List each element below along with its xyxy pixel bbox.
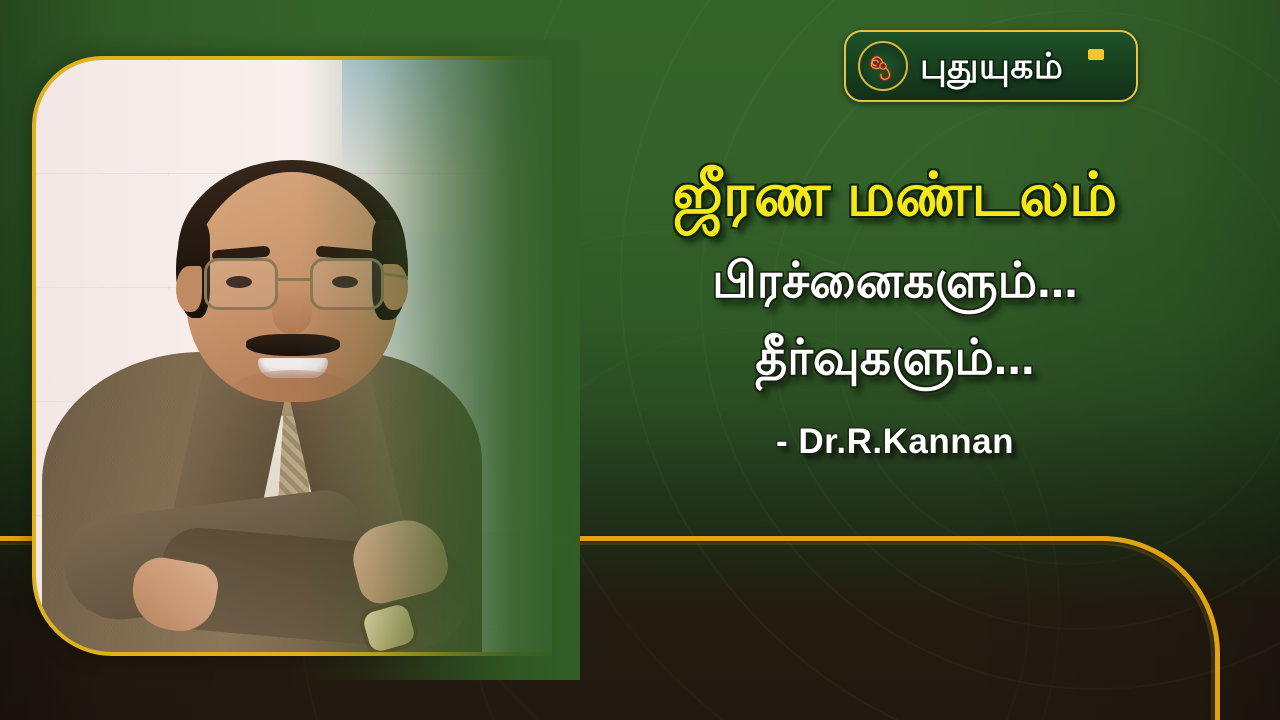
broadcast-lower-third-graphic: புதுயுகம் ஜீரண மண்டலம் பிரச்னைகளும்... த… bbox=[0, 0, 1280, 720]
speaker-credit: - Dr.R.Kannan bbox=[575, 422, 1215, 462]
nose bbox=[272, 288, 312, 334]
chin-shading bbox=[232, 370, 354, 410]
portrait-frame bbox=[32, 56, 552, 656]
eyeglasses-lens-left bbox=[204, 258, 278, 310]
eyeglasses-lens-right bbox=[310, 258, 384, 310]
logo-accent-mark bbox=[1088, 49, 1104, 60]
eyeglasses-bridge bbox=[278, 278, 310, 281]
ear-right bbox=[382, 264, 408, 310]
ear-left bbox=[176, 266, 202, 312]
channel-logo-badge[interactable]: புதுயுகம் bbox=[844, 30, 1138, 102]
doctor-portrait-photo bbox=[36, 60, 552, 652]
headline-block: ஜீரண மண்டலம் பிரச்னைகளும்... தீர்வுகளும்… bbox=[575, 160, 1215, 462]
headline-secondary-line-2: தீர்வுகளும்... bbox=[575, 326, 1215, 392]
headline-secondary-line-1: பிரச்னைகளும்... bbox=[575, 249, 1215, 315]
channel-name: புதுயுகம் bbox=[920, 48, 1063, 84]
headline-primary: ஜீரண மண்டலம் bbox=[575, 160, 1215, 231]
doctor-figure bbox=[36, 60, 552, 652]
moustache bbox=[246, 334, 340, 356]
triple-spiral-triskelion-icon bbox=[858, 41, 908, 91]
